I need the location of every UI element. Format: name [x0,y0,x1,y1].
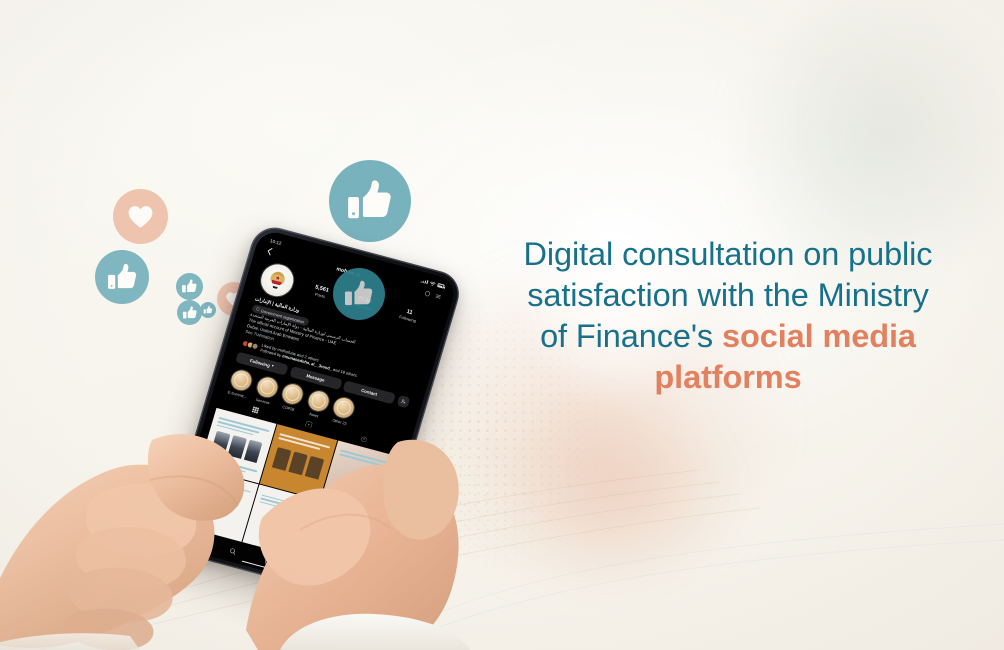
headline-line-2: satisfaction with the Ministry [527,277,929,313]
menu-icon[interactable] [434,293,442,300]
headline-line-3: of Finance's [540,318,722,354]
thumbs-up-icon [203,305,213,315]
battery-icon [436,283,444,289]
uae-emblem-icon [265,268,289,292]
thumbs-up-icon [182,305,198,321]
thumbs-up-icon [106,261,139,294]
stat-posts[interactable]: 5,561 Posts [313,285,330,300]
thumbs-up-icon [343,278,375,310]
government-badge-icon [256,307,260,311]
status-bar-time: 10:12 [270,238,283,246]
page-headline: Digital consultation on public satisfact… [492,234,964,398]
back-icon[interactable] [266,247,273,256]
signal-icon [421,279,428,285]
like-bubble-on-phone [333,268,385,320]
thumbs-up-icon [345,176,395,226]
stat-following[interactable]: 11 Following [399,308,419,324]
heart-icon [125,201,156,232]
like-bubble-tiny [200,302,216,318]
wifi-icon [429,280,436,286]
threads-icon[interactable] [424,290,432,297]
like-bubble-large [329,160,411,242]
heart-bubble-upper [113,189,168,244]
like-bubble-medium [95,250,149,304]
like-bubble-small-1 [176,273,203,300]
thumbs-up-icon [181,278,198,295]
headline-accent-1: social media [722,318,916,354]
poster-canvas: Digital consultation on public satisfact… [0,0,1004,650]
hands-holding-phone [0,330,470,650]
headline-accent-2: platforms [654,359,801,395]
headline-line-1: Digital consultation on public [524,236,933,272]
like-bubble-small-2 [177,300,202,325]
